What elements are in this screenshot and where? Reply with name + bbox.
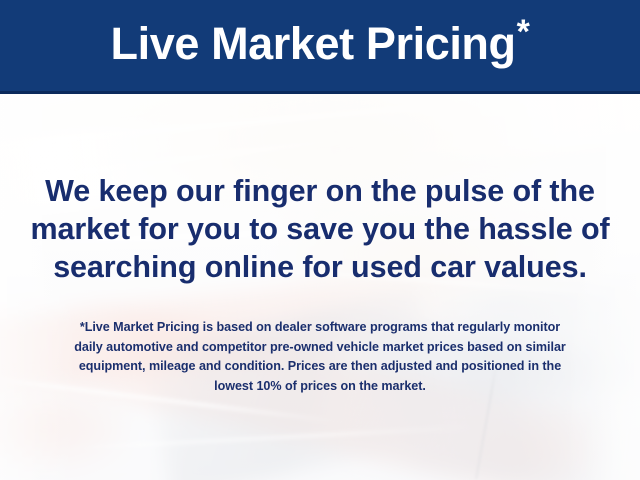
page-title-asterisk: * — [517, 13, 530, 51]
disclaimer-block: *Live Market Pricing is based on dealer … — [30, 318, 610, 396]
page-title: Live Market Pricing* — [111, 21, 530, 70]
header-banner: Live Market Pricing* — [0, 0, 640, 94]
disclaimer-line-3: equipment, mileage and condition. Prices… — [30, 357, 610, 377]
disclaimer-line-4: lowest 10% of prices on the market. — [30, 377, 610, 397]
headline-line-2: market for you to save you the hassle of — [0, 210, 640, 248]
headline-line-1: We keep our finger on the pulse of the — [0, 172, 640, 210]
page-title-text: Live Market Pricing — [111, 18, 516, 69]
disclaimer-line-1: *Live Market Pricing is based on dealer … — [30, 318, 610, 338]
disclaimer-line-2: daily automotive and competitor pre-owne… — [30, 338, 610, 358]
headline-line-3: searching online for used car values. — [0, 248, 640, 286]
headline-block: We keep our finger on the pulse of the m… — [0, 172, 640, 286]
live-market-pricing-graphic: Live Market Pricing* We keep our finger … — [0, 0, 640, 480]
